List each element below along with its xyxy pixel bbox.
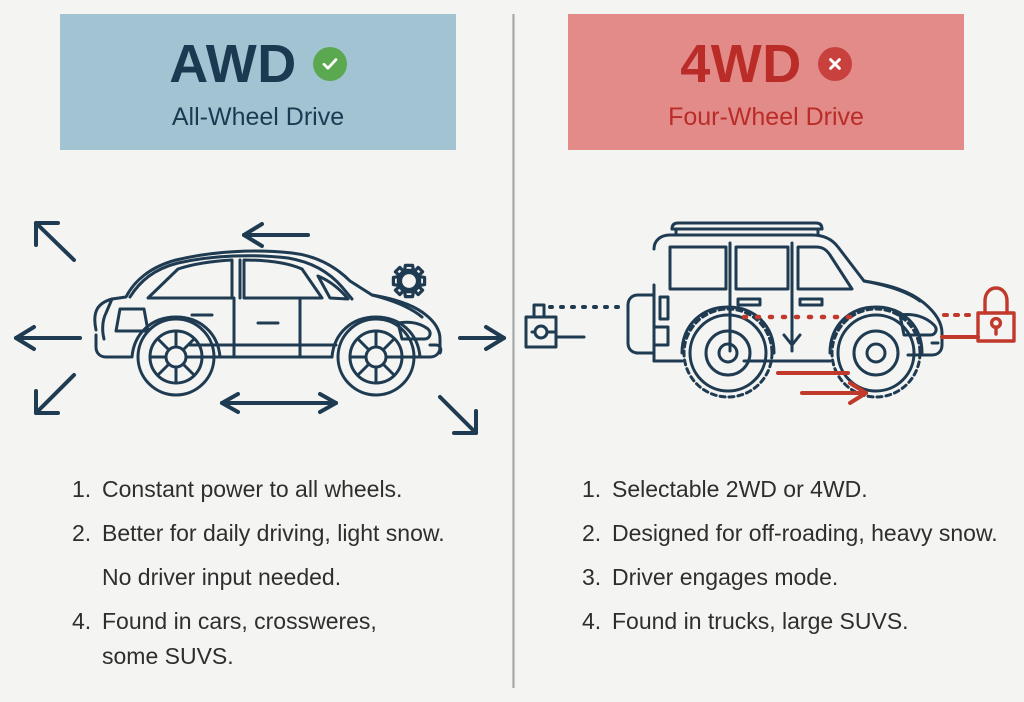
list-item-number: 4.: [582, 610, 612, 633]
list-item-text: Better for daily driving, light snow.: [102, 522, 532, 545]
awd-column: AWD All-Wheel Drive: [0, 0, 512, 702]
list-item-text: Selectable 2WD or 4WD.: [612, 478, 1024, 501]
list-item: 4. Found in cars, crossweres, some SUVS.: [72, 610, 532, 668]
list-item-number: 1.: [72, 478, 102, 501]
lock-icon: [978, 288, 1014, 341]
awd-banner: AWD All-Wheel Drive: [60, 14, 456, 150]
fwd-title-row: 4WD: [680, 37, 852, 91]
gear-icon: [393, 265, 424, 296]
fwd-banner: 4WD Four-Wheel Drive: [568, 14, 964, 150]
drive-direction-arrow: [778, 373, 866, 403]
fwd-column: 4WD Four-Wheel Drive: [512, 0, 1024, 702]
list-item-number: 4.: [72, 610, 102, 633]
list-item: 4. Found in trucks, large SUVS.: [582, 610, 1024, 633]
offroad-suv-selectable-lock-diagram: [512, 185, 1024, 435]
awd-vs-4wd-infographic: AWD All-Wheel Drive: [0, 0, 1024, 702]
column-divider: [512, 14, 515, 688]
list-item-text: Found in cars, crossweres, some SUVS.: [102, 610, 532, 668]
list-item: No driver input needed.: [72, 566, 532, 589]
list-item: 1. Constant power to all wheels.: [72, 478, 532, 501]
list-item: 2. Better for daily driving, light snow.: [72, 522, 532, 545]
x-circle-icon: [818, 47, 852, 81]
list-item-number: 1.: [582, 478, 612, 501]
list-item-text: Found in trucks, large SUVS.: [612, 610, 1024, 633]
fwd-subtitle: Four-Wheel Drive: [668, 105, 864, 130]
list-item-number: 3.: [582, 566, 612, 589]
awd-title: AWD: [169, 37, 296, 91]
awd-title-row: AWD: [169, 37, 346, 91]
fwd-title: 4WD: [680, 37, 802, 91]
list-item-text: No driver input needed.: [102, 566, 532, 589]
list-item: 3. Driver engages mode.: [582, 566, 1024, 589]
list-item-text-line1: Found in cars, crossweres,: [102, 608, 377, 634]
list-item-text: Designed for off-roading, heavy snow.: [612, 522, 1024, 545]
list-item-text: Driver engages mode.: [612, 566, 1024, 589]
fwd-illustration: [512, 185, 1024, 435]
check-circle-icon: [313, 47, 347, 81]
list-item-number: 2.: [582, 522, 612, 545]
list-item-number: 2.: [72, 522, 102, 545]
awd-illustration: [0, 185, 512, 435]
list-item-text: Constant power to all wheels.: [102, 478, 532, 501]
list-item-text-line2: some SUVS.: [102, 645, 532, 668]
awd-subtitle: All-Wheel Drive: [172, 105, 344, 130]
list-item: 1. Selectable 2WD or 4WD.: [582, 478, 1024, 501]
transfer-case-switch-icon: [526, 305, 584, 347]
awd-feature-list: 1. Constant power to all wheels. 2. Bett…: [72, 478, 532, 689]
crossover-suv-all-wheel-arrows-diagram: [0, 185, 512, 435]
fwd-feature-list: 1. Selectable 2WD or 4WD. 2. Designed fo…: [582, 478, 1024, 654]
list-item: 2. Designed for off-roading, heavy snow.: [582, 522, 1024, 545]
